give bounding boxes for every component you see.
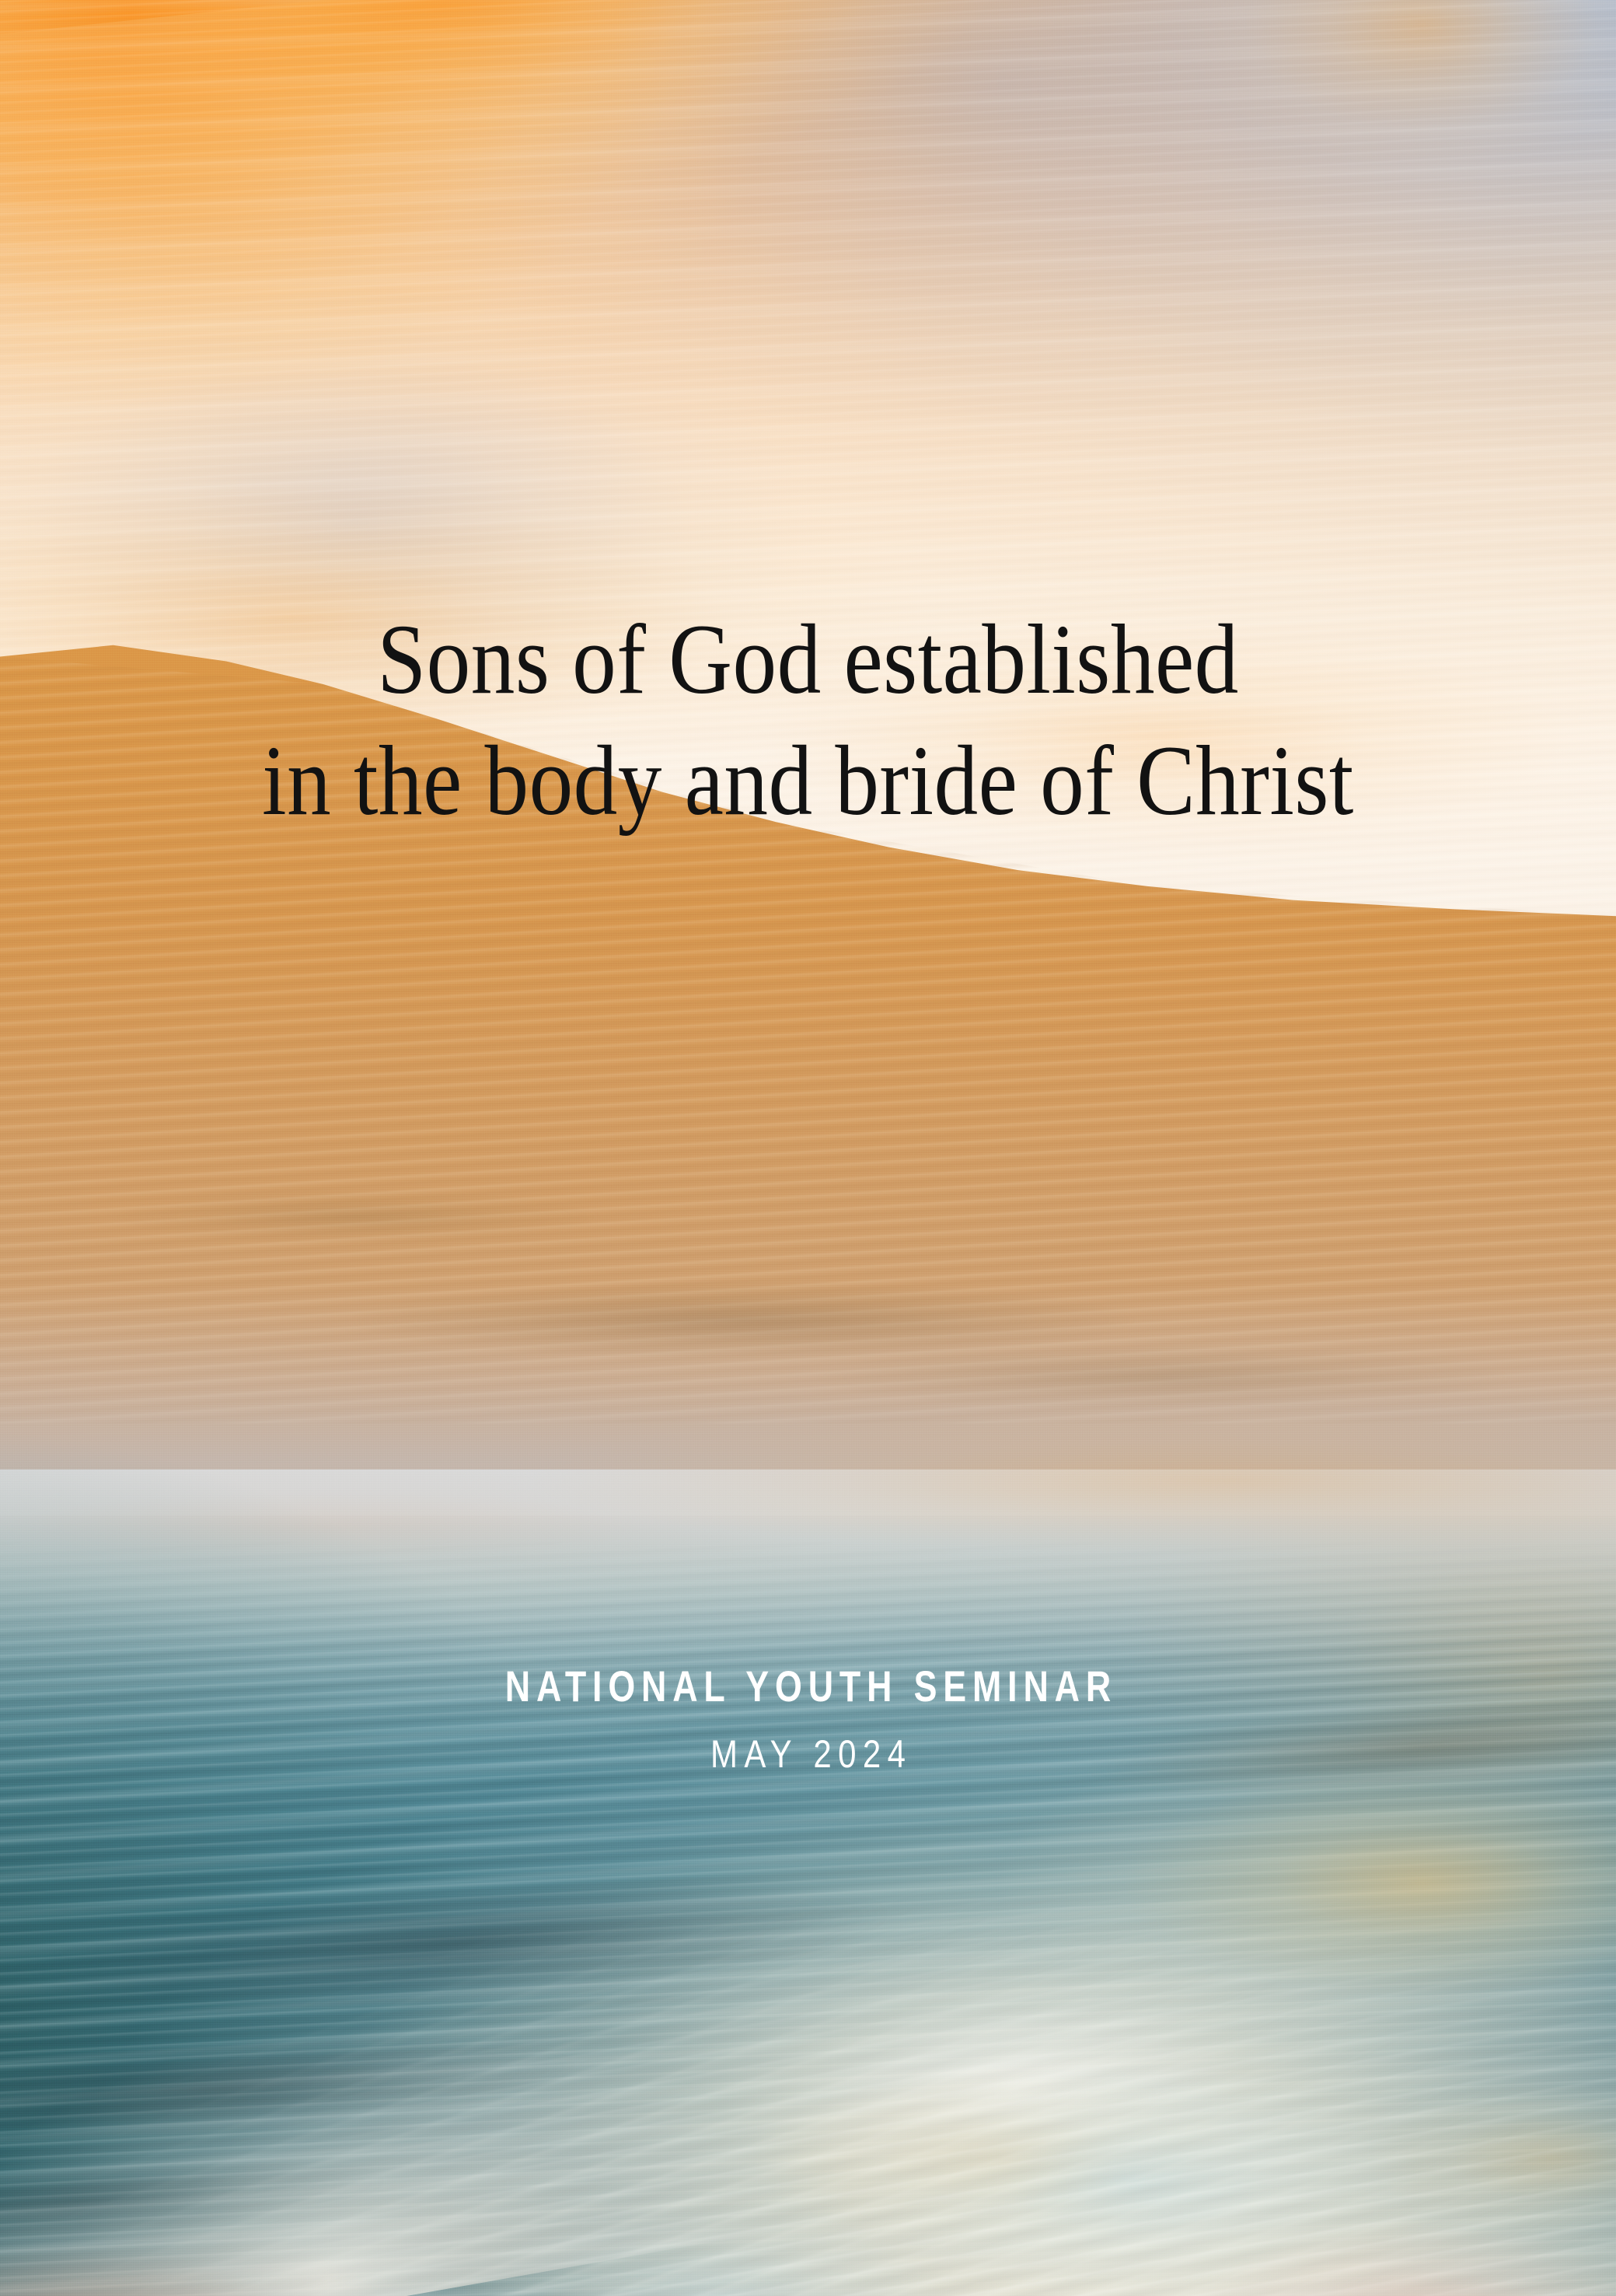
surf-brushstroke-ribs [0, 0, 1616, 2296]
sky-periwinkle-lower-haze [0, 46, 1616, 1056]
surf-shadow-streaks [0, 0, 1616, 2296]
surf-gold-glints [0, 0, 1616, 2296]
orange-cloud-mid-band [0, 0, 1616, 1102]
surf-foam-crest [0, 0, 1616, 2296]
orange-cloud-band-right [0, 0, 1616, 1194]
sea-deep-green-left [0, 0, 1616, 2296]
shore-mist-warm-tint [0, 0, 1616, 2296]
cover-title: Sons of God established in the body and … [0, 599, 1616, 841]
event-name: NATIONAL YOUTH SEMINAR [162, 1665, 1454, 1708]
seminar-cover: Sons of God established in the body and … [0, 0, 1616, 2296]
cover-footer: NATIONAL YOUTH SEMINAR MAY 2024 [0, 1665, 1616, 1774]
title-line-2: in the body and bride of Christ [93, 720, 1524, 841]
title-line-1: Sons of God established [93, 599, 1524, 720]
orange-cloud-streak [0, 0, 1616, 643]
canvas-grain-texture [0, 0, 1616, 2296]
orange-cloud-wisp-right [0, 0, 1616, 414]
event-date: MAY 2024 [129, 1735, 1486, 1774]
dune-band [0, 0, 1616, 2296]
surf-foam-mass [0, 0, 1616, 2296]
surf-cool-wash [0, 0, 1616, 2296]
sand-pink-corner [0, 0, 1616, 2296]
sea-sunlit-right [0, 0, 1616, 2296]
surf-foam-tongue-left [0, 0, 1616, 2296]
orange-cloud-mass [0, 0, 1616, 689]
dune-scrub-detail [0, 0, 1616, 2296]
dune-crest-highlight [0, 0, 1616, 2296]
sky-periwinkle-mid-haze [0, 0, 1616, 1056]
sky-periwinkle-haze [0, 0, 1616, 1194]
sea-gradient [0, 0, 1616, 2296]
surf-brushstroke-ribs-wide [0, 0, 1616, 2296]
sea-wave-texture [0, 0, 1616, 2296]
dune-brushstroke-texture [0, 0, 1616, 2296]
sea-wave-texture-wide [0, 0, 1616, 2296]
shore-mist-band [0, 0, 1616, 2296]
